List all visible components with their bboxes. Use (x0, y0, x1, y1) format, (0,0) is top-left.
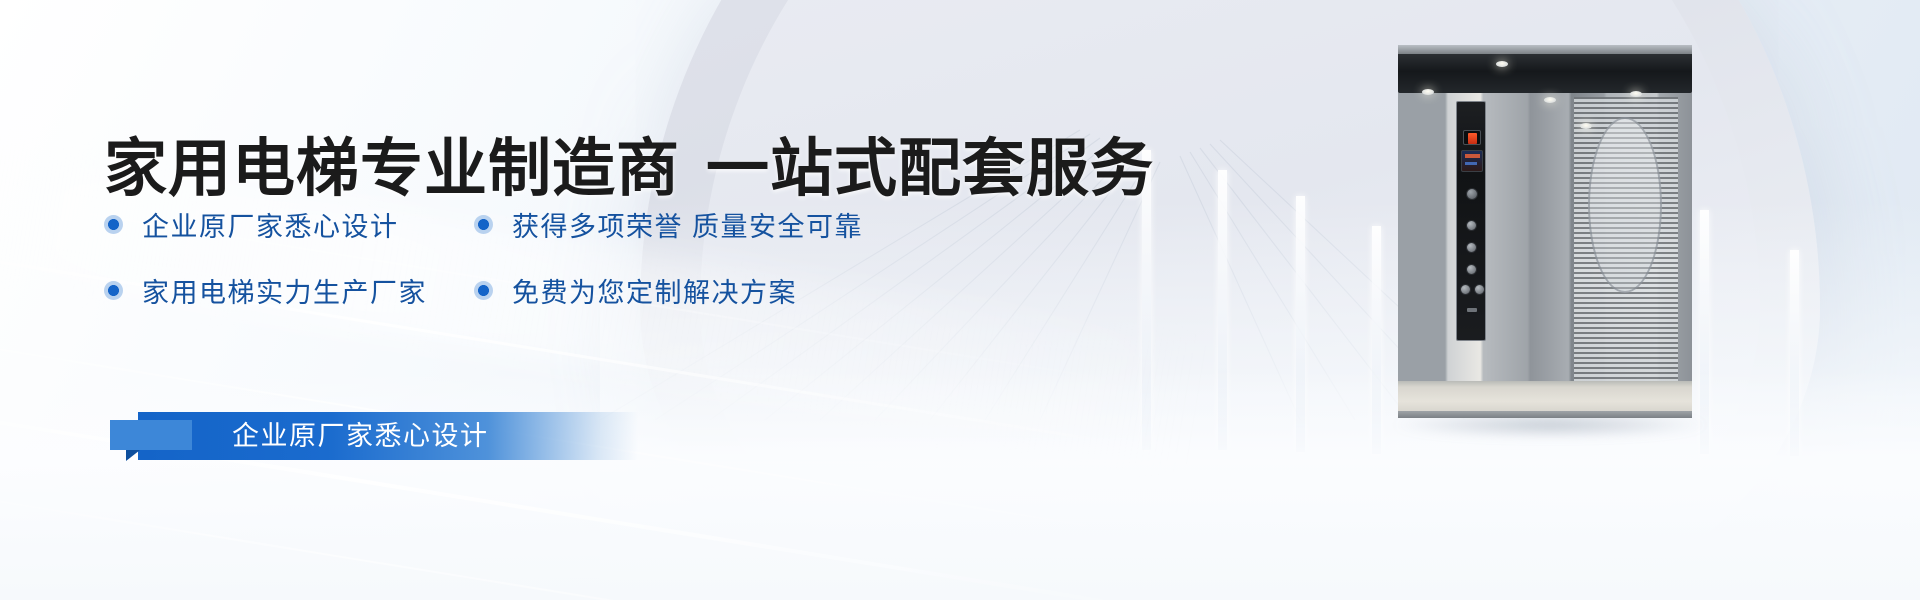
feature-row: 家用电梯实力生产厂家 免费为您定制解决方案 (104, 271, 964, 310)
headline-part-2: 一站式配套服务 (706, 134, 1154, 204)
feature-label: 家用电梯实力生产厂家 (142, 271, 427, 310)
panel-badge (1467, 308, 1477, 312)
bullet-dot-icon (104, 215, 123, 234)
panel-speaker-icon[interactable] (1466, 188, 1478, 200)
floor-display-icon (1463, 130, 1481, 145)
floor-button[interactable] (1466, 264, 1477, 275)
feature-label: 企业原厂家悉心设计 (142, 205, 399, 244)
list-item: 家用电梯实力生产厂家 (104, 271, 474, 310)
elevator-base (1398, 411, 1692, 418)
elevator-control-panel[interactable] (1456, 101, 1486, 341)
ceiling-light-icon (1580, 123, 1592, 129)
promotional-banner: 家用电梯专业制造商一站式配套服务 企业原厂家悉心设计 获得多项荣誉 质量安全可靠… (0, 0, 1920, 600)
screen-line (1465, 162, 1477, 165)
ceiling-light-icon (1544, 97, 1556, 103)
feature-row: 企业原厂家悉心设计 获得多项荣誉 质量安全可靠 (104, 205, 964, 244)
highlight-ribbon: 企业原厂家悉心设计 (110, 412, 670, 460)
list-item: 企业原厂家悉心设计 (104, 205, 474, 244)
list-item: 获得多项荣誉 质量安全可靠 (474, 205, 863, 244)
feature-list: 企业原厂家悉心设计 获得多项荣誉 质量安全可靠 家用电梯实力生产厂家 免费为您定… (104, 205, 964, 337)
headline-part-1: 家用电梯专业制造商 (104, 134, 680, 204)
ribbon-fold-icon (126, 450, 140, 461)
floor-button[interactable] (1466, 220, 1477, 231)
screen-line (1465, 154, 1480, 158)
door-open-button[interactable] (1460, 284, 1471, 295)
ribbon-label: 企业原厂家悉心设计 (232, 412, 489, 460)
floor-button[interactable] (1466, 242, 1477, 253)
ceiling-light-icon (1496, 61, 1508, 67)
feature-label: 免费为您定制解决方案 (512, 271, 797, 310)
feature-label: 获得多项荣誉 质量安全可靠 (512, 205, 863, 244)
floor-digit (1468, 133, 1477, 144)
ceiling-light-icon (1422, 89, 1434, 95)
door-close-button[interactable] (1474, 284, 1485, 295)
elevator-ceiling-lip (1398, 45, 1692, 54)
bullet-dot-icon (104, 281, 123, 300)
elevator-ceiling (1398, 45, 1692, 93)
list-item: 免费为您定制解决方案 (474, 271, 797, 310)
panel-screen-icon (1461, 150, 1483, 172)
ceiling-light-icon (1630, 91, 1642, 97)
banner-content: 家用电梯专业制造商一站式配套服务 企业原厂家悉心设计 获得多项荣誉 质量安全可靠… (0, 0, 1100, 600)
elevator-cabin-image (1398, 45, 1692, 418)
elevator-mirror-oval (1588, 117, 1662, 293)
page-title: 家用电梯专业制造商一站式配套服务 (104, 118, 1154, 209)
ribbon-tab (110, 420, 192, 450)
bullet-dot-icon (474, 215, 493, 234)
bullet-dot-icon (474, 281, 493, 300)
